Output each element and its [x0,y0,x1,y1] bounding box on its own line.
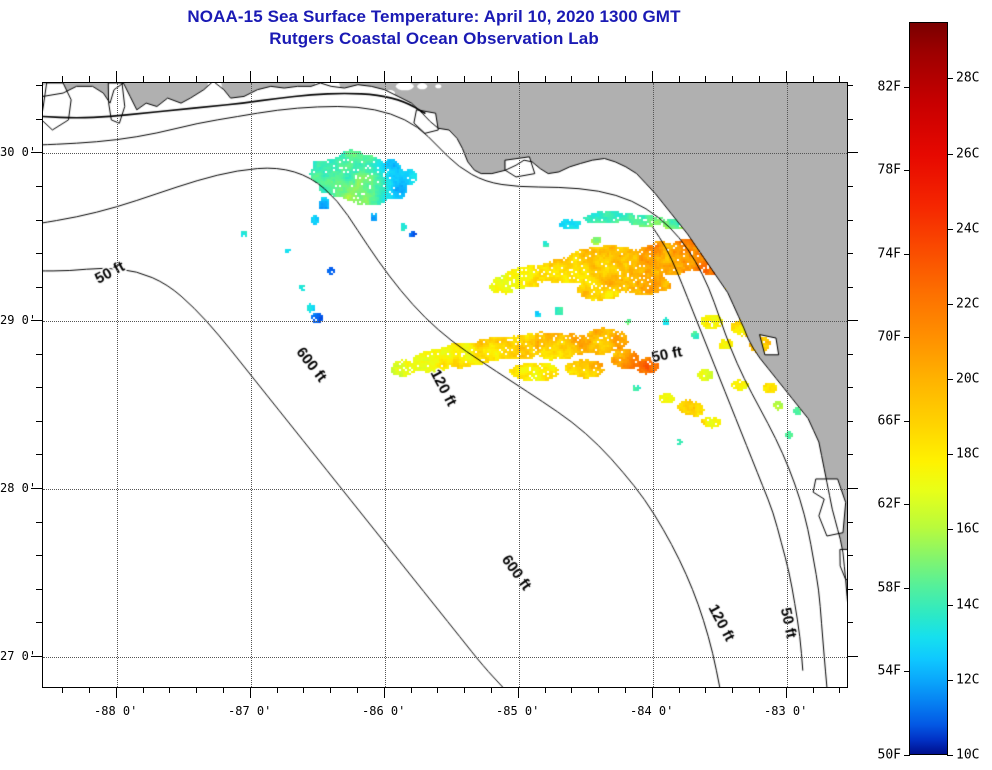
tick-y-right [847,555,853,556]
colorbar-tick-celsius [947,78,953,79]
tick-x-minor [437,687,438,693]
colorbar-label-fahrenheit: 66F [847,413,901,428]
tick-y-right [847,119,853,120]
tick-y-minor [36,85,42,86]
colorbar-tick-celsius [947,379,953,380]
tick-x-minor [330,687,331,693]
colorbar-tick-celsius [947,229,953,230]
tick-x-top [223,76,224,82]
tick-x-minor [143,687,144,693]
tick-y-right [847,287,853,288]
tick-x-major [250,687,251,698]
colorbar-tick-celsius [947,154,953,155]
colorbar-tick-fahrenheit [904,337,910,338]
colorbar-label-celsius: 14C [956,597,979,612]
tick-y-minor [36,387,42,388]
tick-x-top [625,76,626,82]
tick-y-minor [36,253,42,254]
tick-y-right [847,488,858,489]
colorbar-tick-fahrenheit [904,170,910,171]
y-tick-label: 28 0' [0,481,28,495]
colorbar-label-celsius: 28C [956,71,979,86]
tick-x-top [679,76,680,82]
colorbar-label-celsius: 16C [956,522,979,537]
colorbar-label-celsius: 22C [956,296,979,311]
x-tick-label: -86 0' [362,704,405,718]
colorbar-tick-celsius [947,304,953,305]
tick-x-top [545,76,546,82]
tick-x-minor [545,687,546,693]
tick-x-top [196,76,197,82]
colorbar-label-fahrenheit: 70F [847,330,901,345]
tick-y-right [847,656,858,657]
colorbar-tick-celsius [947,680,953,681]
colorbar-label-fahrenheit: 58F [847,580,901,595]
tick-x-top [62,76,63,82]
tick-x-minor [411,687,412,693]
tick-y-right [847,387,853,388]
tick-x-top [652,71,653,82]
tick-x-major [652,687,653,698]
tick-y-right [847,454,853,455]
colorbar-tick-fahrenheit [904,421,910,422]
colorbar-label-celsius: 26C [956,146,979,161]
tick-x-top [491,76,492,82]
tick-x-top [839,76,840,82]
tick-y-minor [36,555,42,556]
tick-x-top [116,71,117,82]
tick-x-major [786,687,787,698]
title-line-1: NOAA-15 Sea Surface Temperature: April 1… [0,6,868,28]
tick-y-minor [36,454,42,455]
colorbar-label-celsius: 24C [956,221,979,236]
y-tick-label: 29 0' [0,313,28,327]
colorbar-tick-fahrenheit [904,504,910,505]
tick-x-top [571,76,572,82]
tick-y-right [847,354,853,355]
tick-x-top [169,76,170,82]
colorbar-tick-celsius [947,529,953,530]
tick-x-minor [679,687,680,693]
sst-map-figure: NOAA-15 Sea Surface Temperature: April 1… [0,0,992,770]
tick-x-top [598,76,599,82]
colorbar-label-fahrenheit: 50F [847,748,901,763]
colorbar-label-celsius: 12C [956,672,979,687]
tick-y-minor [36,421,42,422]
x-tick-label: -88 0' [94,704,137,718]
tick-y-minor [36,220,42,221]
tick-x-top [89,76,90,82]
tick-x-minor [705,687,706,693]
sst-raster-canvas [43,83,847,687]
tick-y-right [847,622,853,623]
tick-x-minor [169,687,170,693]
tick-y-minor [36,354,42,355]
tick-x-major [116,687,117,698]
tick-x-minor [464,687,465,693]
tick-x-top [384,71,385,82]
tick-y-minor [36,287,42,288]
tick-x-minor [277,687,278,693]
tick-y-right [847,522,853,523]
tick-x-top [437,76,438,82]
tick-x-top [330,76,331,82]
colorbar-tick-fahrenheit [904,87,910,88]
colorbar-gradient[interactable] [909,22,948,755]
colorbar-tick-celsius [947,605,953,606]
tick-x-minor [196,687,197,693]
tick-x-minor [491,687,492,693]
tick-x-top [732,76,733,82]
colorbar-label-celsius: 10C [956,748,979,763]
tick-y-right [847,186,853,187]
colorbar-label-fahrenheit: 74F [847,246,901,261]
tick-x-top [411,76,412,82]
tick-y-minor [36,119,42,120]
tick-x-top [277,76,278,82]
x-tick-label: -85 0' [496,704,539,718]
tick-y-minor [36,186,42,187]
map-plot-area[interactable] [42,82,848,688]
colorbar-label-fahrenheit: 78F [847,163,901,178]
figure-title: NOAA-15 Sea Surface Temperature: April 1… [0,6,868,50]
tick-x-minor [89,687,90,693]
x-tick-label: -83 0' [764,704,807,718]
colorbar-tick-celsius [947,454,953,455]
colorbar-label-celsius: 18C [956,447,979,462]
tick-x-minor [357,687,358,693]
tick-y-minor [36,622,42,623]
tick-x-minor [571,687,572,693]
y-tick-label: 27 0' [0,649,28,663]
tick-x-top [357,76,358,82]
x-tick-label: -87 0' [228,704,271,718]
tick-x-top [464,76,465,82]
x-tick-label: -84 0' [630,704,673,718]
tick-x-top [705,76,706,82]
tick-x-top [813,76,814,82]
colorbar-tick-fahrenheit [904,755,910,756]
tick-y-minor [36,522,42,523]
tick-x-top [143,76,144,82]
tick-x-minor [839,687,840,693]
tick-x-minor [732,687,733,693]
tick-x-minor [303,687,304,693]
tick-x-top [303,76,304,82]
colorbar-label-fahrenheit: 62F [847,497,901,512]
tick-x-top [759,76,760,82]
title-line-2: Rutgers Coastal Ocean Observation Lab [0,28,868,50]
colorbar-tick-fahrenheit [904,671,910,672]
colorbar-tick-fahrenheit [904,588,910,589]
y-tick-label: 30 0' [0,145,28,159]
colorbar-label-celsius: 20C [956,372,979,387]
tick-x-minor [759,687,760,693]
tick-y-right [847,152,858,153]
tick-y-right [847,220,853,221]
tick-x-minor [598,687,599,693]
tick-y-right [847,320,858,321]
tick-x-major [384,687,385,698]
colorbar-tick-fahrenheit [904,254,910,255]
tick-x-major [518,687,519,698]
colorbar-tick-celsius [947,755,953,756]
tick-x-top [786,71,787,82]
colorbar-label-fahrenheit: 54F [847,664,901,679]
tick-x-minor [62,687,63,693]
tick-x-top [250,71,251,82]
colorbar-label-fahrenheit: 82F [847,79,901,94]
tick-y-minor [36,589,42,590]
tick-x-top [518,71,519,82]
tick-x-minor [813,687,814,693]
tick-x-minor [223,687,224,693]
tick-x-minor [625,687,626,693]
